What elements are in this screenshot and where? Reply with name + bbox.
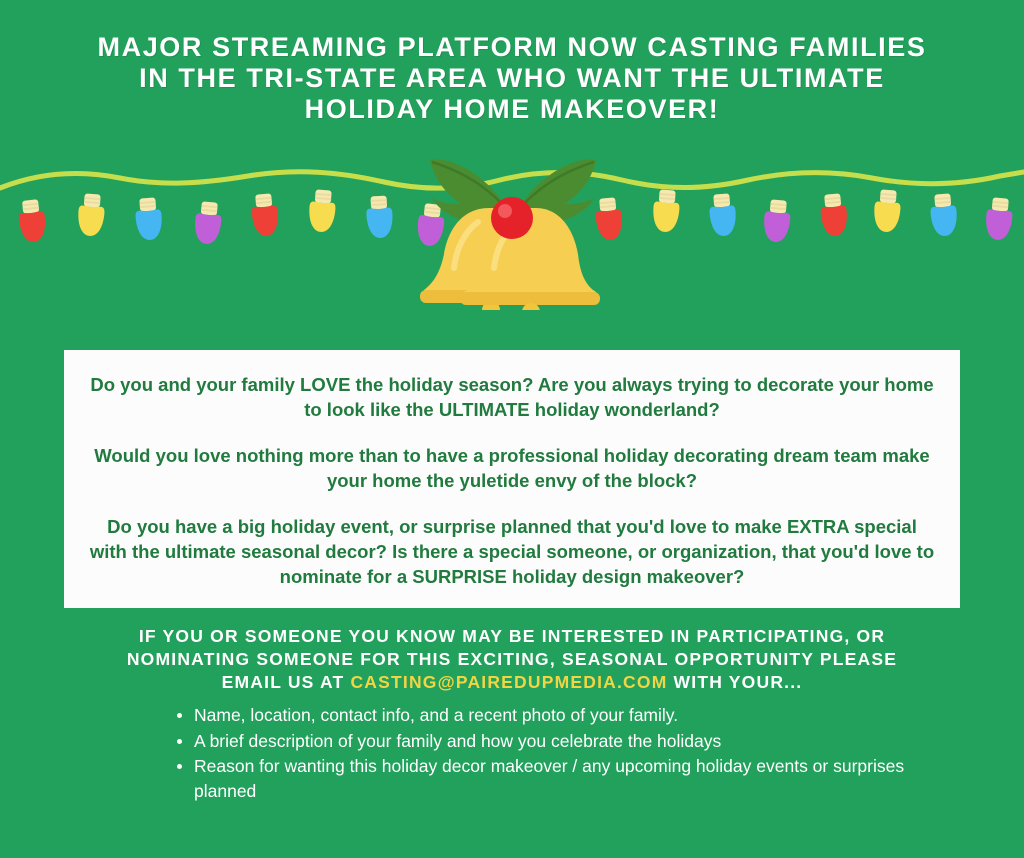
holiday-casting-flyer: MAJOR STREAMING PLATFORM NOW CASTING FAM… — [0, 0, 1024, 858]
bulb-red-1 — [17, 199, 47, 243]
headline-line-2: IN THE TRI-STATE AREA WHO WANT THE ULTIM… — [0, 63, 1024, 94]
headline-line-1: MAJOR STREAMING PLATFORM NOW CASTING FAM… — [0, 32, 1024, 63]
cta-line-1: IF YOU OR SOMEONE YOU KNOW MAY BE INTERE… — [62, 625, 962, 648]
bulb-blue-2 — [365, 195, 393, 238]
holly-berry-highlight — [498, 204, 512, 218]
paragraph-1: Do you and your family LOVE the holiday … — [88, 372, 936, 422]
page-title: MAJOR STREAMING PLATFORM NOW CASTING FAM… — [0, 32, 1024, 125]
bulb-purple-1 — [193, 201, 223, 245]
bulb-yellow-3 — [652, 189, 681, 233]
cta-line-2: NOMINATING SOMEONE FOR THIS EXCITING, SE… — [62, 648, 962, 671]
bulb-blue-3 — [708, 193, 737, 237]
requirements-list: Name, location, contact info, and a rece… — [175, 703, 935, 804]
paragraph-3: Do you have a big holiday event, or surp… — [88, 514, 936, 589]
bulb-blue-4 — [929, 193, 958, 237]
bulb-red-2 — [250, 193, 280, 237]
bulb-red-4 — [819, 193, 849, 237]
golden-bells-with-holly — [420, 159, 600, 310]
bulb-blue-1 — [134, 197, 163, 241]
content-panel: Do you and your family LOVE the holiday … — [64, 350, 960, 608]
cta-email-suffix: WITH YOUR... — [667, 672, 802, 692]
holly-berry — [491, 197, 533, 239]
bulb-yellow-4 — [873, 189, 902, 233]
bulb-purple-2 — [416, 203, 446, 247]
headline-line-3: HOLIDAY HOME MAKEOVER! — [0, 94, 1024, 125]
christmas-lights-strand — [0, 150, 1024, 310]
bulb-yellow-2 — [308, 189, 337, 233]
list-item: Name, location, contact info, and a rece… — [175, 703, 935, 728]
call-to-action: IF YOU OR SOMEONE YOU KNOW MAY BE INTERE… — [62, 625, 962, 694]
cta-line-3: EMAIL US AT CASTING@PAIREDUPMEDIA.COM WI… — [62, 671, 962, 694]
list-item: Reason for wanting this holiday decor ma… — [175, 754, 935, 803]
bulb-purple-3 — [762, 199, 792, 243]
paragraph-2: Would you love nothing more than to have… — [88, 443, 936, 493]
casting-email-address[interactable]: CASTING@PAIREDUPMEDIA.COM — [350, 672, 667, 692]
cta-email-prefix: EMAIL US AT — [222, 672, 351, 692]
list-item: A brief description of your family and h… — [175, 729, 935, 754]
bulb-red-3 — [594, 197, 624, 241]
bulb-yellow-1 — [77, 193, 106, 237]
bulb-purple-4 — [984, 197, 1014, 241]
